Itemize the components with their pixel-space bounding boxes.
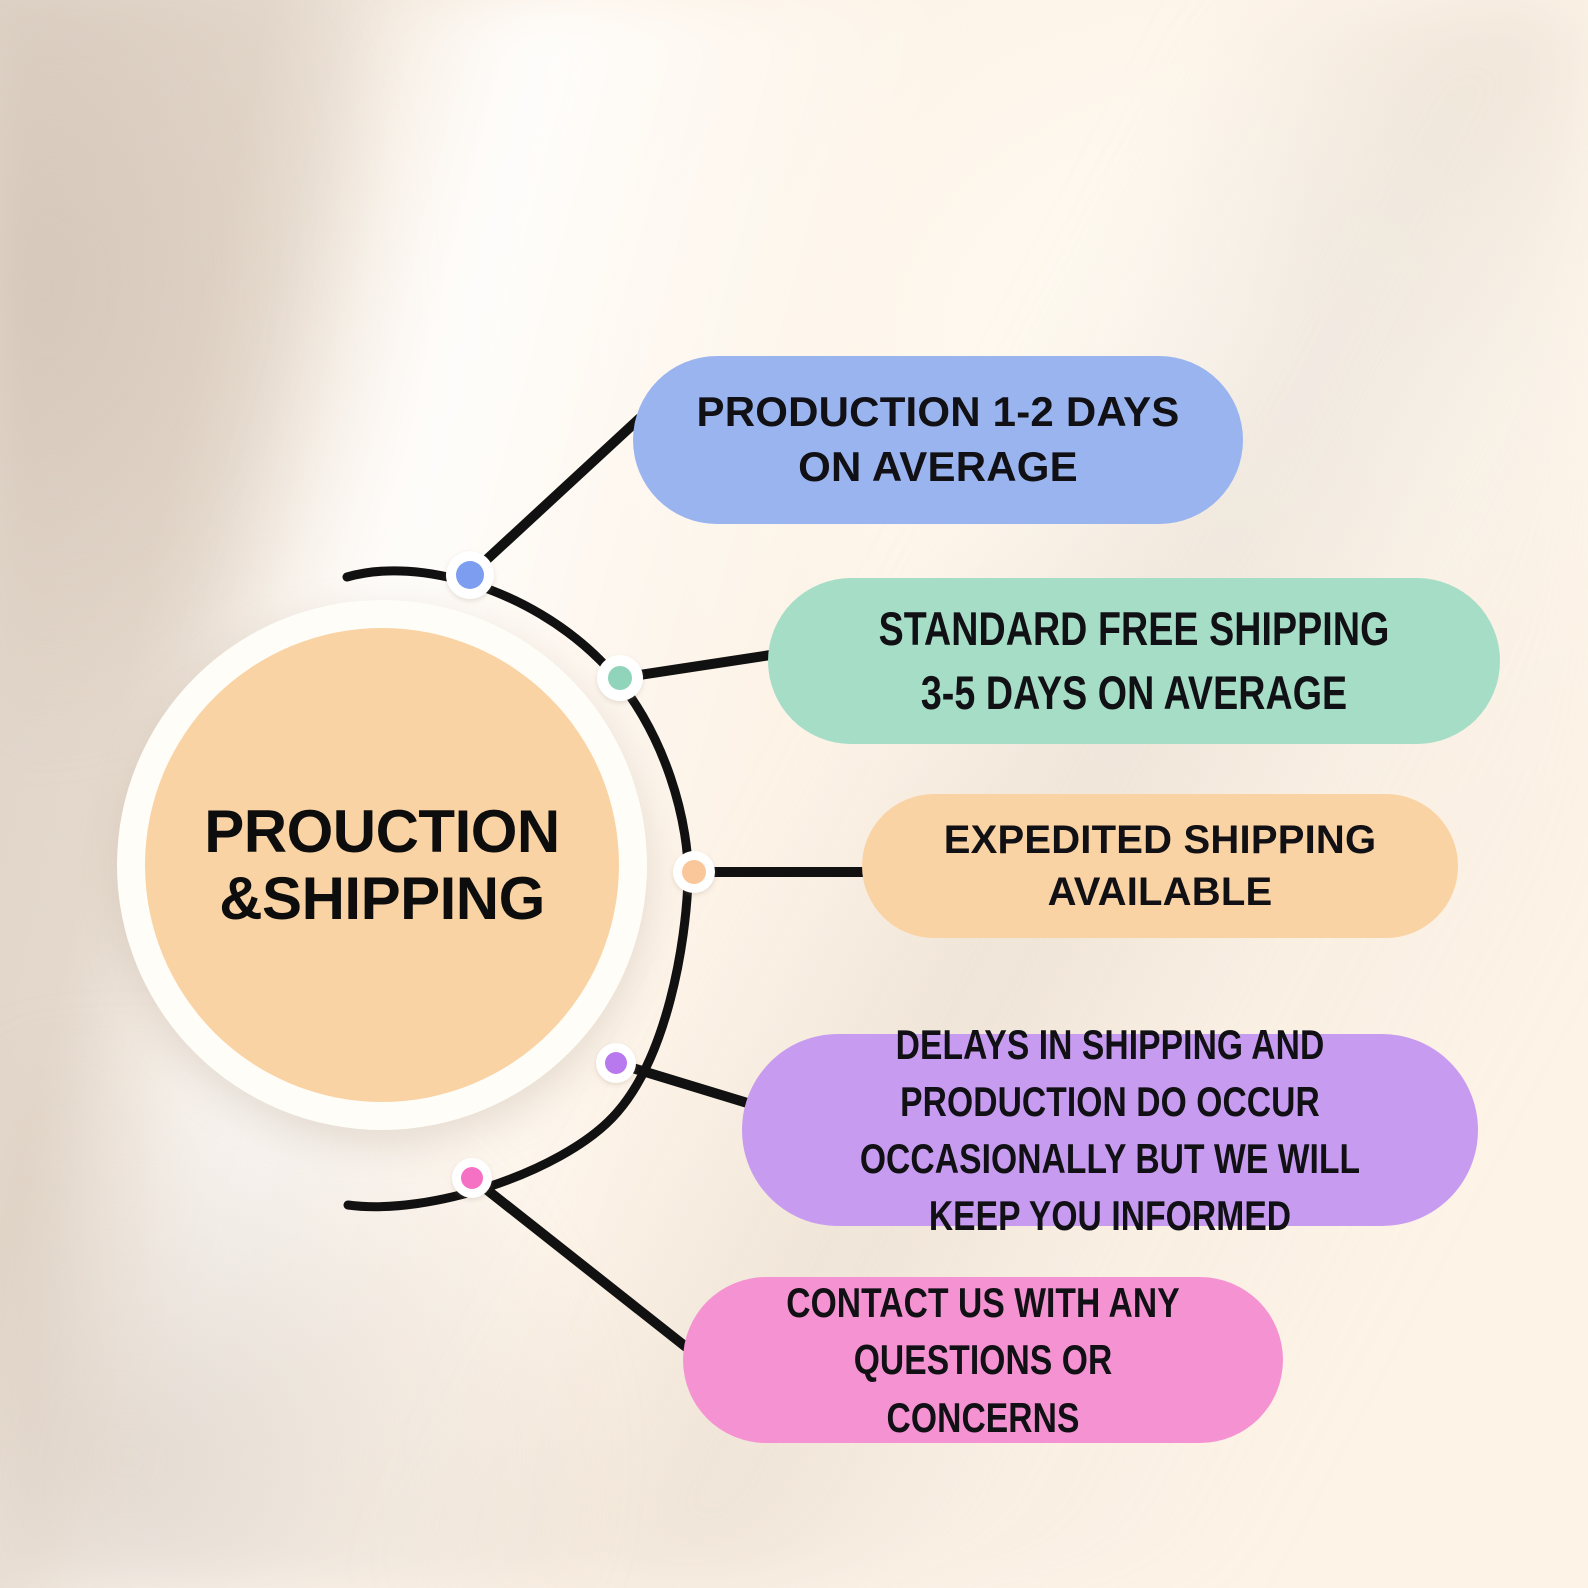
spoke-contact-us [472,1178,700,1358]
branch-label-standard-shipping: STANDARD FREE SHIPPING 3-5 DAYS ON AVERA… [878,597,1390,725]
hub-label: PROUCTION &SHIPPING [180,798,584,932]
branch-label-shipping-delays: DELAYS IN SHIPPING AND PRODUCTION DO OCC… [852,1016,1367,1244]
node-dot-contact-us[interactable] [452,1158,492,1198]
branch-label-expedited-shipping: EXPEDITED SHIPPING AVAILABLE [908,814,1412,918]
branch-card-shipping-delays[interactable]: DELAYS IN SHIPPING AND PRODUCTION DO OCC… [742,1034,1478,1226]
branch-card-standard-shipping[interactable]: STANDARD FREE SHIPPING 3-5 DAYS ON AVERA… [768,578,1500,744]
node-core-icon [608,666,632,690]
branch-card-production-time[interactable]: PRODUCTION 1-2 DAYS ON AVERAGE [633,356,1243,524]
node-dot-standard-shipping[interactable] [597,655,643,701]
node-dot-production-time[interactable] [446,551,494,599]
spoke-standard-shipping [620,652,790,678]
node-dot-expedited-shipping[interactable] [673,851,715,893]
node-core-icon [461,1167,483,1189]
branch-card-contact-us[interactable]: CONTACT US WITH ANY QUESTIONS OR CONCERN… [683,1277,1283,1443]
node-dot-shipping-delays[interactable] [596,1043,636,1083]
node-core-icon [682,860,706,884]
node-core-icon [605,1052,627,1074]
hub-circle[interactable]: PROUCTION &SHIPPING [145,628,619,1102]
node-core-icon [456,561,484,589]
infographic-canvas: PROUCTION &SHIPPING PRODUCTION 1-2 DAYS … [0,0,1588,1588]
spoke-production-time [470,418,640,575]
branch-card-expedited-shipping[interactable]: EXPEDITED SHIPPING AVAILABLE [862,794,1458,938]
hub-ring: PROUCTION &SHIPPING [117,600,647,1130]
branch-label-contact-us: CONTACT US WITH ANY QUESTIONS OR CONCERN… [780,1274,1186,1445]
branch-label-production-time: PRODUCTION 1-2 DAYS ON AVERAGE [679,385,1197,494]
